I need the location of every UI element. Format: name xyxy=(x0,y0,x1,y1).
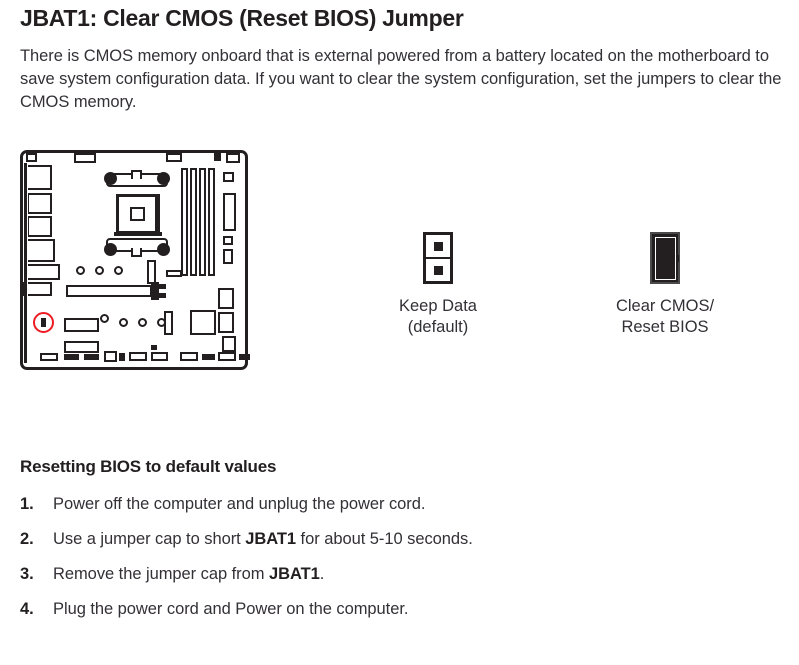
step-number: 1. xyxy=(20,495,53,514)
front-panel-header-5 xyxy=(119,353,125,361)
cpu-socket-base xyxy=(114,232,162,236)
front-panel-header-2 xyxy=(64,354,79,360)
front-panel-header-7 xyxy=(151,352,168,361)
board-connector-top-right xyxy=(166,153,182,162)
step-number: 4. xyxy=(20,600,53,619)
front-panel-header-4 xyxy=(104,351,117,362)
jumper-keep-data-label: Keep Data (default) xyxy=(363,296,513,338)
step-text-post: for about 5-10 seconds. xyxy=(296,530,473,548)
cpu-bracket-top-hole-left xyxy=(104,172,117,185)
list-item: 1. Power off the computer and unplug the… xyxy=(20,495,780,530)
right-connector-1 xyxy=(223,172,234,182)
right-connector-5 xyxy=(218,288,234,309)
dimm-slot-1 xyxy=(181,168,188,276)
cpu-bracket-top-hole-right xyxy=(157,172,170,185)
mount-hole-4 xyxy=(100,314,109,323)
section-title: Resetting BIOS to default values xyxy=(20,457,276,477)
lower-header-1 xyxy=(64,318,99,332)
board-connector-top-far-right xyxy=(226,153,240,163)
pcie-slot-tab-b xyxy=(158,293,166,298)
front-panel-header-6 xyxy=(129,352,147,361)
board-connector-top-left xyxy=(26,153,37,162)
jumper-pin-top-cell xyxy=(426,235,450,259)
chipset-block xyxy=(190,310,216,335)
right-connector-7 xyxy=(222,336,236,352)
front-panel-header-11 xyxy=(239,354,250,360)
step-text: Plug the power cord and Power on the com… xyxy=(53,600,408,619)
dimm-slot-4 xyxy=(208,168,215,276)
step-text-bold: JBAT1 xyxy=(245,530,296,548)
right-connector-2 xyxy=(223,193,236,231)
jumper-clear-cmos-label: Clear CMOS/ Reset BIOS xyxy=(590,296,740,338)
step-text-pre: Power off the computer and unplug the po… xyxy=(53,495,425,513)
jumper-cap-notch-right xyxy=(676,255,679,262)
jumper-clear-cmos: Clear CMOS/ Reset BIOS xyxy=(590,232,740,338)
board-connector-top-dimm xyxy=(214,153,221,161)
right-connector-3 xyxy=(223,236,233,245)
step-number: 2. xyxy=(20,530,53,549)
dimm-slot-3 xyxy=(199,168,206,276)
io-port-1 xyxy=(24,165,52,190)
right-connector-6 xyxy=(218,312,234,333)
mount-hole-6 xyxy=(138,318,147,327)
cpu-bracket-bottom-hole-left xyxy=(104,243,117,256)
jumper-cap-notch-left xyxy=(652,255,655,262)
jumper-shorted-icon xyxy=(650,232,680,284)
jbat1-jumper-dot xyxy=(41,318,46,327)
cpu-bracket-bottom-hole-right xyxy=(157,243,170,256)
mount-hole-5 xyxy=(119,318,128,327)
io-port-3 xyxy=(27,216,52,237)
front-panel-header-10 xyxy=(218,352,236,361)
io-port-5 xyxy=(24,264,60,280)
mount-hole-1 xyxy=(76,266,85,275)
list-item: 3. Remove the jumper cap from JBAT1. xyxy=(20,565,780,600)
jumper-pin-top xyxy=(434,242,443,251)
page-title: JBAT1: Clear CMOS (Reset BIOS) Jumper xyxy=(20,5,463,32)
motherboard-diagram xyxy=(18,148,254,376)
m2-slot-upper xyxy=(147,260,156,284)
io-edge-rail xyxy=(24,163,28,363)
lower-header-2 xyxy=(64,341,99,353)
jumper-pin-bottom-cell xyxy=(426,259,450,281)
jumper-pin-bottom xyxy=(434,266,443,275)
step-text: Remove the jumper cap from JBAT1. xyxy=(53,565,324,584)
cpu-socket-die xyxy=(130,207,145,221)
step-text-pre: Remove the jumper cap from xyxy=(53,565,269,583)
procedure-steps: 1. Power off the computer and unplug the… xyxy=(20,495,780,635)
io-port-2 xyxy=(27,193,52,214)
cpu-socket-lever xyxy=(155,194,160,234)
dimm-slot-2 xyxy=(190,168,197,276)
cpu-bracket-top-notch xyxy=(131,170,142,179)
step-text-pre: Plug the power cord and Power on the com… xyxy=(53,600,408,618)
jumper-keep-data: Keep Data (default) xyxy=(363,232,513,338)
mount-hole-3 xyxy=(114,266,123,275)
right-connector-4 xyxy=(223,249,233,264)
pcie-slot-long xyxy=(66,285,152,297)
pcie-slot-tab-a xyxy=(158,284,166,289)
jumper-open-icon xyxy=(423,232,453,284)
list-item: 4. Plug the power cord and Power on the … xyxy=(20,600,780,635)
front-panel-header-1 xyxy=(40,353,58,361)
front-panel-header-3 xyxy=(84,354,99,360)
step-text-post: . xyxy=(320,565,325,583)
jumper-cap-body xyxy=(655,237,676,280)
list-item: 2. Use a jumper cap to short JBAT1 for a… xyxy=(20,530,780,565)
step-text: Use a jumper cap to short JBAT1 for abou… xyxy=(53,530,473,549)
step-text-pre: Use a jumper cap to short xyxy=(53,530,245,548)
mount-hole-2 xyxy=(95,266,104,275)
step-text: Power off the computer and unplug the po… xyxy=(53,495,425,514)
board-connector-top-mid xyxy=(74,153,96,163)
intro-paragraph: There is CMOS memory onboard that is ext… xyxy=(20,45,785,114)
io-port-4 xyxy=(24,239,55,262)
front-panel-header-dot xyxy=(151,345,157,350)
small-header-right xyxy=(166,270,182,277)
cpu-bracket-bottom-notch xyxy=(131,248,142,257)
m2-slot-lower xyxy=(164,311,173,335)
step-text-bold: JBAT1 xyxy=(269,565,320,583)
front-panel-header-8 xyxy=(180,352,198,361)
step-number: 3. xyxy=(20,565,53,584)
front-panel-header-9 xyxy=(202,354,215,360)
